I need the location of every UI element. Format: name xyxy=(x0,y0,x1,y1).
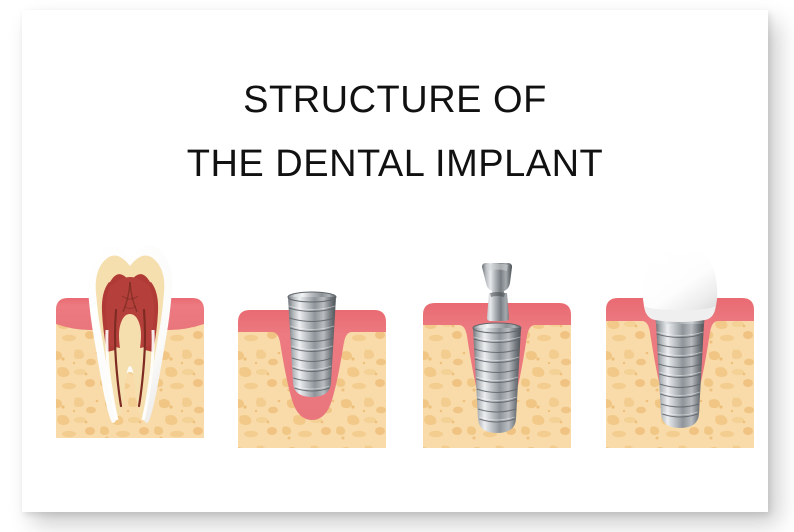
crown-panel xyxy=(595,10,765,512)
abutment-panel xyxy=(412,10,582,512)
poster-card: STRUCTURE OF THE DENTAL IMPLANT xyxy=(22,10,768,512)
natural-tooth-panel xyxy=(45,10,215,512)
titanium-screw xyxy=(655,315,705,428)
implant-screw-panel xyxy=(227,10,397,512)
ceramic-crown xyxy=(643,251,718,322)
illustration-row xyxy=(22,10,768,512)
titanium-screw xyxy=(473,323,521,433)
titanium-screw xyxy=(288,292,336,397)
